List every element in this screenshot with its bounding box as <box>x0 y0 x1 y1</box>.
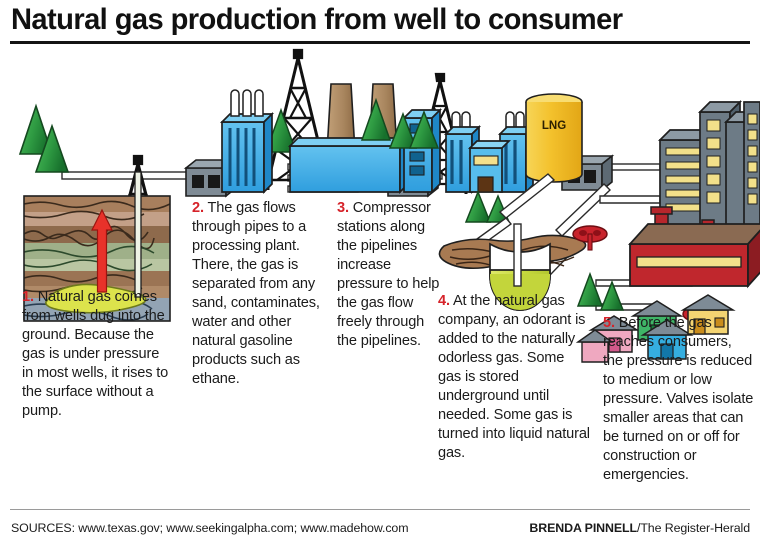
step-5-text: Before the gas reaches consumers, the pr… <box>603 315 753 483</box>
step-4-text: At the natural gas company, an odorant i… <box>438 293 590 461</box>
footer-divider <box>10 509 750 510</box>
pine-tree-compressor-front <box>466 192 509 222</box>
step-4-number: 4. <box>438 293 450 309</box>
credit-line: BRENDA PINNELL/The Register-Herald <box>529 521 750 535</box>
step-5-number: 5. <box>603 315 615 331</box>
lng-tank-label: LNG <box>542 120 566 132</box>
author-byline: BRENDA PINNELL <box>529 521 637 535</box>
lng-storage-tank: LNG <box>526 94 582 182</box>
step-3-text: Compressor stations along the pipelines … <box>337 200 439 349</box>
step-1-caption: 1. Natural gas comes from wells dug into… <box>22 288 174 421</box>
step-2-text: The gas flows through pipes to a process… <box>192 200 320 387</box>
step-3-caption: 3. Compressor stations along the pipelin… <box>337 199 441 351</box>
step-1-number: 1. <box>22 289 34 305</box>
step-2-caption: 2. The gas flows through pipes to a proc… <box>192 199 332 389</box>
page-title: Natural gas production from well to cons… <box>11 3 622 37</box>
infographic-page: Natural gas production from well to cons… <box>0 0 760 551</box>
footer: SOURCES: www.texas.gov; www.seekingalpha… <box>0 509 760 551</box>
publication-name: /The Register-Herald <box>637 521 750 535</box>
step-4-caption: 4. At the natural gas company, an odoran… <box>438 292 590 463</box>
step-2-number: 2. <box>192 200 204 216</box>
step-5-caption: 5. Before the gas reaches consumers, the… <box>603 314 755 485</box>
sources-line: SOURCES: www.texas.gov; www.seekingalpha… <box>11 521 408 535</box>
step-3-number: 3. <box>337 200 349 216</box>
city-skyscraper <box>660 102 760 232</box>
pine-tree <box>20 106 68 172</box>
compressor-station <box>446 112 533 192</box>
title-bar: Natural gas production from well to cons… <box>0 0 760 44</box>
well-bore <box>135 172 141 297</box>
step-1-text: Natural gas comes from wells dug into th… <box>22 289 168 419</box>
